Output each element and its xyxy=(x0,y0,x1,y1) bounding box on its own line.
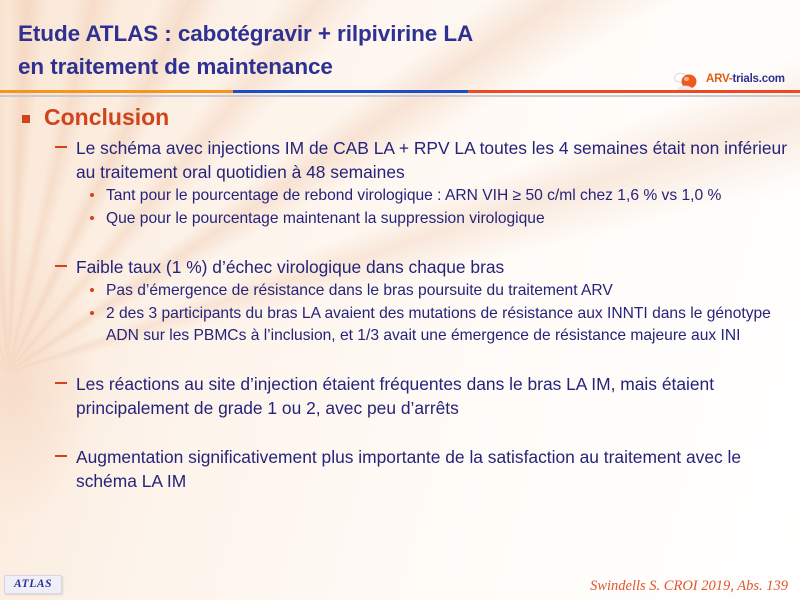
level2-item: Faible taux (1 %) d’échec virologique da… xyxy=(0,255,800,279)
divider-segment-blue xyxy=(233,90,468,93)
level2-label: Les réactions au site d’injection étaien… xyxy=(76,374,714,418)
arv-trials-logo-text: ARV-trials.com xyxy=(706,73,785,85)
slide-content: Conclusion Le schéma avec injections IM … xyxy=(0,104,800,493)
level3-item: Pas d’émergence de résistance dans le br… xyxy=(0,280,800,302)
content-group: Augmentation significativement plus impo… xyxy=(0,445,800,493)
level3-item: Tant pour le pourcentage de rebond virol… xyxy=(0,185,800,207)
logo-text-com: .com xyxy=(759,73,785,85)
section-title: Conclusion xyxy=(0,104,800,131)
header-divider-shadow xyxy=(0,95,800,97)
level2-label: Le schéma avec injections IM de CAB LA +… xyxy=(76,138,787,182)
slide: Etude ATLAS : cabotégravir + rilpivirine… xyxy=(0,0,800,600)
dot-bullet-icon xyxy=(90,216,94,220)
group-spacer xyxy=(0,420,800,440)
page-title-line-1: Etude ATLAS : cabotégravir + rilpivirine… xyxy=(18,21,473,47)
level3-label: 2 des 3 participants du bras LA avaient … xyxy=(106,305,771,344)
source-citation: Swindells S. CROI 2019, Abs. 139 xyxy=(590,578,788,595)
level2-item: Augmentation significativement plus impo… xyxy=(0,445,800,493)
dot-bullet-icon xyxy=(90,311,94,315)
section-title-label: Conclusion xyxy=(44,104,169,130)
content-group: Faible taux (1 %) d’échec virologique da… xyxy=(0,255,800,347)
group-spacer xyxy=(0,230,800,250)
level2-label: Augmentation significativement plus impo… xyxy=(76,447,741,491)
dash-bullet-icon xyxy=(55,146,67,148)
level2-item: Le schéma avec injections IM de CAB LA +… xyxy=(0,136,800,184)
divider-segment-red xyxy=(468,90,800,93)
level3-label: Pas d’émergence de résistance dans le br… xyxy=(106,282,613,299)
level3-label: Tant pour le pourcentage de rebond virol… xyxy=(106,187,721,204)
level2-label: Faible taux (1 %) d’échec virologique da… xyxy=(76,257,504,277)
header-divider xyxy=(0,90,800,93)
atlas-study-badge: ATLAS xyxy=(4,575,62,594)
page-title-line-2: en traitement de maintenance xyxy=(18,54,333,80)
group-spacer xyxy=(0,347,800,367)
level3-label: Que pour le pourcentage maintenant la su… xyxy=(106,210,545,227)
dot-bullet-icon xyxy=(90,193,94,197)
divider-segment-orange xyxy=(0,90,233,93)
content-group: Le schéma avec injections IM de CAB LA +… xyxy=(0,136,800,230)
dash-bullet-icon xyxy=(55,382,67,384)
content-group: Les réactions au site d’injection étaien… xyxy=(0,372,800,420)
dot-bullet-icon xyxy=(90,288,94,292)
level3-item: Que pour le pourcentage maintenant la su… xyxy=(0,208,800,230)
dash-bullet-icon xyxy=(55,265,67,267)
logo-text-arv: ARV- xyxy=(706,73,732,85)
square-bullet-icon xyxy=(22,115,30,123)
logo-text-trials: trials xyxy=(732,73,758,85)
slide-header: Etude ATLAS : cabotégravir + rilpivirine… xyxy=(0,0,800,92)
level3-item: 2 des 3 participants du bras LA avaient … xyxy=(0,303,800,347)
dash-bullet-icon xyxy=(55,455,67,457)
level2-item: Les réactions au site d’injection étaien… xyxy=(0,372,800,420)
